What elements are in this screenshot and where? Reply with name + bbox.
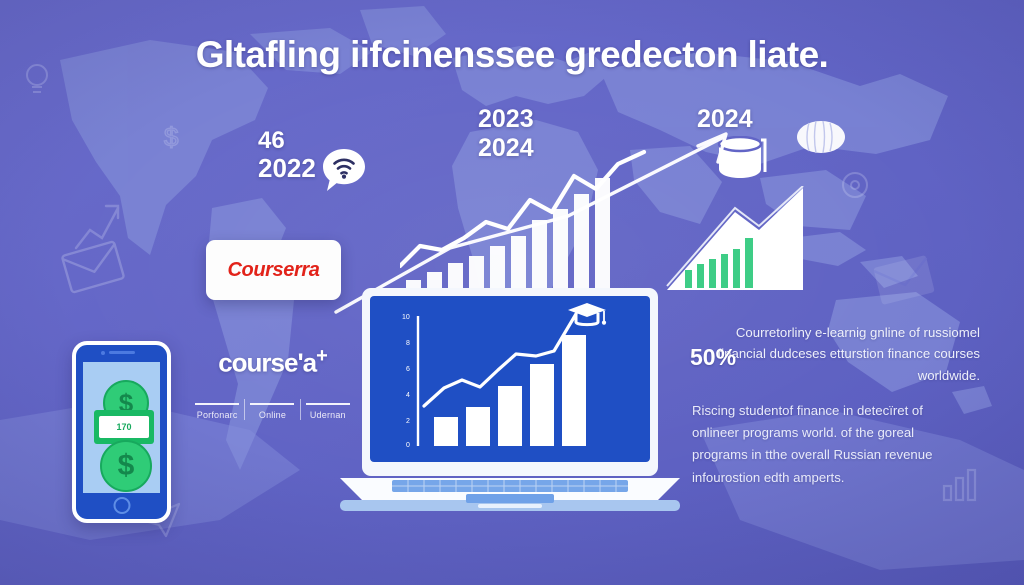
phone-screen: $ 170 $ [83,362,160,493]
banknote-icon: 170 [94,410,154,444]
callout-2022-value: 46 [258,128,316,154]
wordmark-link-1-bar [250,403,294,405]
wordmark-link-0[interactable]: Porfonarc [190,403,244,420]
wordmark-plus: + [316,345,327,367]
wordmark-link-1-label: Online [245,410,299,420]
wordmark-links: Porfonarc Online Udernan [190,403,355,420]
callout-2022: 46 2022 [258,128,316,182]
svg-text:8: 8 [406,340,410,347]
stat-percent: 50% [690,344,736,371]
phone-speaker [109,351,135,354]
callout-2022-year: 2022 [258,154,316,182]
smartphone-mockup[interactable]: $ 170 $ [72,341,171,523]
wordmark-block: course'a+ Porfonarc Online Udernan [190,345,355,420]
wordmark-label: course'a [218,348,316,378]
banknote-value: 170 [99,416,149,438]
svg-text:6: 6 [406,366,410,373]
svg-text:$: $ [164,122,179,152]
dollar-coin-icon-bottom: $ [100,440,152,492]
brand-card[interactable]: Courserra [206,240,341,300]
svg-text:10: 10 [402,314,410,321]
svg-text:2: 2 [406,418,410,425]
brand-card-label: Courserra [228,259,320,282]
wordmark-link-0-label: Porfonarc [190,410,244,420]
laptop-trackpad [466,494,554,503]
description-paragraph: Riscing studentof finance in detecïret o… [692,400,964,489]
page-title: Gltafling iifcinenssee gredecton liate. [0,34,1024,76]
wordmark-text: course'a+ [190,345,355,379]
envelope-solid-icon [872,252,936,308]
svg-text:4: 4 [406,392,410,399]
wordmark-link-0-bar [195,403,239,405]
arrow-up-outline-icon [68,196,124,256]
wordmark-link-1[interactable]: Online [245,403,299,420]
svg-text:0: 0 [406,442,410,449]
phone-home-button[interactable] [113,497,130,514]
globe-icon [795,115,847,159]
infographic-canvas: $ Gltafling iifcinenssee gredecton liate… [0,0,1024,585]
laptop-mockup: 10 8 6 4 2 0 [340,288,680,518]
right-area-chart [663,186,863,294]
dollar-outline-icon: $ [158,120,188,154]
stat-block-50: 50% Courretorliny e-learnig gnline of ru… [690,322,980,386]
